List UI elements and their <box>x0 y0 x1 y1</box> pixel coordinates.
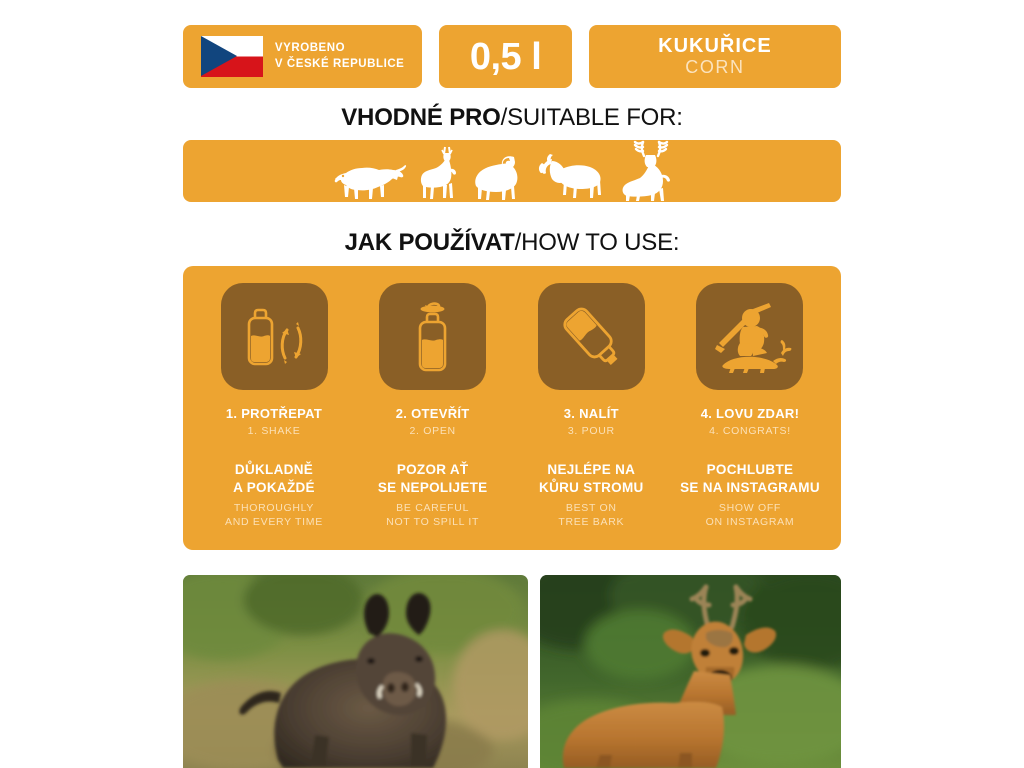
suitable-for-heading: VHODNÉ PRO/SUITABLE FOR: <box>0 104 1024 132</box>
fallow-deer-grazing-icon <box>538 149 612 201</box>
step-2-title-cs: 2. OTEVŘÍT <box>396 406 470 422</box>
origin-label: VYROBENO V ČESKÉ REPUBLICE <box>275 41 404 71</box>
step-1-note-cs: DŮKLADNĚ A POKAŽDÉ <box>233 461 315 496</box>
step-2-title-en: 2. OPEN <box>409 425 455 437</box>
bottle-pour-icon <box>538 283 645 390</box>
how-to-use-heading: JAK POUŽÍVAT/HOW TO USE: <box>0 229 1024 257</box>
step-1-title-cs: 1. PROTŘEPAT <box>226 406 322 422</box>
how-to-use-panel: 1. PROTŘEPAT 1. SHAKE DŮKLADNĚ A POKAŽDÉ… <box>183 266 841 550</box>
red-deer-stag-icon <box>618 140 690 201</box>
roe-deer-icon <box>418 145 466 201</box>
step-3: 3. NALÍT 3. POUR NEJLÉPE NA KŮRU STROMU … <box>517 283 665 536</box>
step-4-note-en: SHOW OFF ON INSTAGRAM <box>706 501 795 529</box>
how-to-use-heading-en: HOW TO USE: <box>521 229 679 256</box>
roe-deer-buck-photo <box>540 575 841 768</box>
step-1: 1. PROTŘEPAT 1. SHAKE DŮKLADNĚ A POKAŽDÉ… <box>200 283 348 536</box>
step-1-note-en: THOROUGHLY AND EVERY TIME <box>225 501 323 529</box>
step-4: 4. LOVU ZDAR! 4. CONGRATS! POCHLUBTE SE … <box>676 283 824 536</box>
step-4-title-cs: 4. LOVU ZDAR! <box>701 406 800 422</box>
header-row: VYROBENO V ČESKÉ REPUBLICE 0,5 l KUKUŘIC… <box>183 25 841 88</box>
step-1-title-en: 1. SHAKE <box>248 425 301 437</box>
product-name-badge: KUKUŘICE CORN <box>589 25 841 88</box>
wild-boar-photo <box>183 575 528 768</box>
hunter-with-trophy-icon <box>696 283 803 390</box>
step-3-title-en: 3. POUR <box>568 425 615 437</box>
suitable-for-heading-cs: VHODNÉ PRO <box>341 104 500 131</box>
step-3-note-cs: NEJLÉPE NA KŮRU STROMU <box>539 461 644 496</box>
bottle-shake-icon <box>221 283 328 390</box>
step-4-title-en: 4. CONGRATS! <box>709 425 791 437</box>
product-info-sheet: VYROBENO V ČESKÉ REPUBLICE 0,5 l KUKUŘIC… <box>0 0 1024 768</box>
volume-label: 0,5 l <box>470 38 541 76</box>
product-name-cs: KUKUŘICE <box>658 36 772 58</box>
suitable-for-heading-en: SUITABLE FOR: <box>507 104 683 131</box>
wild-boar-icon <box>334 155 412 201</box>
product-name-en: CORN <box>685 58 744 77</box>
mouflon-icon <box>472 151 532 201</box>
step-4-note-cs: POCHLUBTE SE NA INSTAGRAMU <box>680 461 820 496</box>
photo-gallery <box>183 575 841 768</box>
origin-badge: VYROBENO V ČESKÉ REPUBLICE <box>183 25 422 88</box>
step-2-note-cs: POZOR AŤ SE NEPOLIJETE <box>378 461 488 496</box>
step-2-note-en: BE CAREFUL NOT TO SPILL IT <box>386 501 479 529</box>
suitable-animals-band <box>183 140 841 202</box>
step-3-note-en: BEST ON TREE BARK <box>558 501 624 529</box>
bottle-open-cap-icon <box>379 283 486 390</box>
volume-badge: 0,5 l <box>439 25 572 88</box>
czech-flag-icon <box>201 36 263 77</box>
step-3-title-cs: 3. NALÍT <box>564 406 619 422</box>
how-to-use-heading-cs: JAK POUŽÍVAT <box>345 229 515 256</box>
step-2: 2. OTEVŘÍT 2. OPEN POZOR AŤ SE NEPOLIJET… <box>359 283 507 536</box>
